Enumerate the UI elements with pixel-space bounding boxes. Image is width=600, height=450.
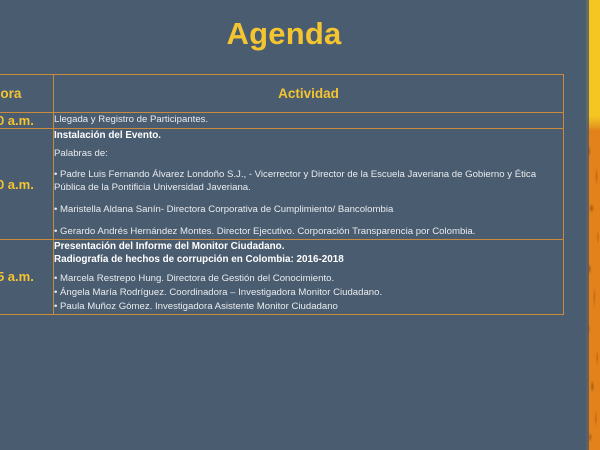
- row-activity: Presentación del Informe del Monitor Ciu…: [54, 240, 564, 315]
- activity-bullet-list: • Marcela Restrepo Hung. Directora de Ge…: [54, 273, 563, 314]
- row-activity: Instalación del Evento. Palabras de: • P…: [54, 129, 564, 240]
- activity-line: • Marcela Restrepo Hung. Directora de Ge…: [54, 273, 563, 286]
- activity-line: • Ángela María Rodríguez. Coordinadora –…: [54, 287, 563, 300]
- agenda-table: Hora Actividad 7:30 a.m. Llegada y Regis…: [0, 74, 564, 315]
- table-header-row: Hora Actividad: [0, 75, 564, 113]
- row-activity: Llegada y Registro de Participantes.: [54, 113, 564, 129]
- table-body: 7:30 a.m. Llegada y Registro de Particip…: [0, 113, 564, 315]
- column-header-actividad: Actividad: [54, 75, 564, 113]
- row-time: 8:45 a.m.: [0, 240, 54, 315]
- activity-line: • Maristella Aldana Sanín- Directora Cor…: [54, 204, 563, 217]
- table-row: 8:45 a.m. Presentación del Informe del M…: [0, 240, 564, 315]
- activity-heading: Presentación del Informe del Monitor Ciu…: [54, 240, 563, 267]
- column-header-hora: Hora: [0, 75, 54, 113]
- page-title: Agenda: [0, 18, 568, 49]
- table-header: Hora Actividad: [0, 75, 564, 113]
- activity-heading: Instalación del Evento.: [54, 129, 563, 142]
- table-row: 7:30 a.m. Llegada y Registro de Particip…: [0, 113, 564, 129]
- decorative-edge-strip: [586, 0, 600, 450]
- activity-heading-line1: Presentación del Informe del Monitor Ciu…: [54, 241, 284, 252]
- row-time: 7:30 a.m.: [0, 113, 54, 129]
- agenda-slide: Agenda Hora Actividad 7:30 a.m. Llegada …: [0, 0, 600, 450]
- row-time: 8:00 a.m.: [0, 129, 54, 240]
- activity-line: • Padre Luis Fernando Álvarez Londoño S.…: [54, 169, 563, 195]
- activity-subheading: Palabras de:: [54, 148, 563, 161]
- activity-heading-line2: Radiografía de hechos de corrupción en C…: [54, 253, 563, 266]
- activity-line: Llegada y Registro de Participantes.: [54, 114, 563, 127]
- activity-line: • Paula Muñoz Gómez. Investigadora Asist…: [54, 301, 563, 314]
- activity-line: • Gerardo Andrés Hernández Montes. Direc…: [54, 226, 563, 239]
- table-row: 8:00 a.m. Instalación del Evento. Palabr…: [0, 129, 564, 240]
- edge-blue-sliver: [586, 0, 589, 450]
